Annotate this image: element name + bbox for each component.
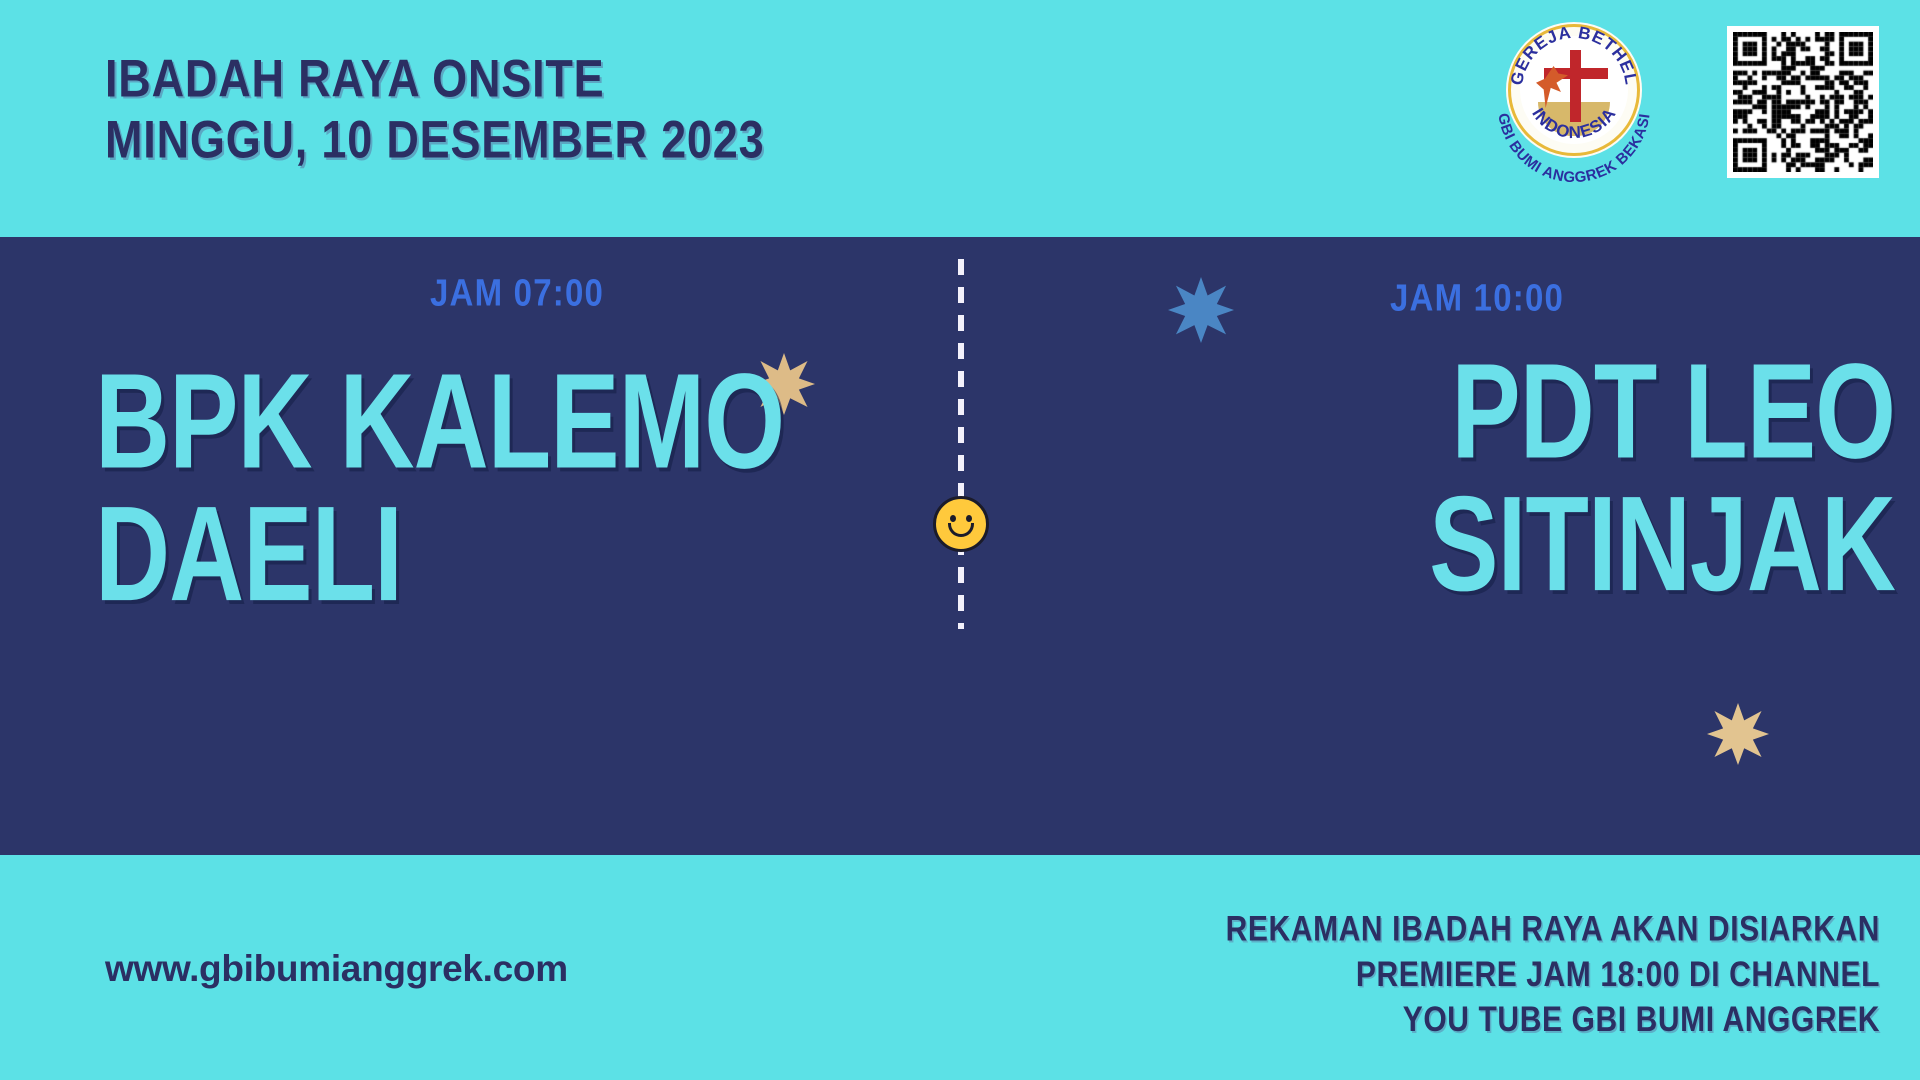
speaker-name-left: BPK KALEMO DAELI (95, 357, 935, 622)
broadcast-note-line1: REKAMAN IBADAH RAYA AKAN DISIARKAN (1226, 907, 1880, 952)
smiley-eye-left (950, 515, 956, 522)
event-date-line2: MINGGU, 10 DESEMBER 2023 (105, 110, 764, 172)
event-title-line1: IBADAH RAYA ONSITE (105, 48, 605, 108)
event-title-block: IBADAH RAYA ONSITE MINGGU, 10 DESEMBER 2… (105, 48, 764, 171)
dashed-divider (958, 259, 964, 629)
qr-code[interactable] (1727, 26, 1879, 178)
logo-arc-text: GBI BUMI ANGGREK BEKASI (1494, 14, 1654, 184)
smiley-eye-right (966, 515, 972, 522)
service-time-left: JAM 07:00 (430, 271, 604, 314)
smiley-mouth (948, 523, 974, 537)
service-column-left: JAM 07:00 BPK KALEMO DAELI (0, 237, 960, 855)
speaker-name-right: PDT LEO SITINJAK (1055, 347, 1895, 612)
svg-text:GBI BUMI ANGGREK BEKASI: GBI BUMI ANGGREK BEKASI (1494, 112, 1653, 184)
website-url[interactable]: www.gbibumianggrek.com (105, 948, 568, 990)
service-column-right: JAM 10:00 PDT LEO SITINJAK (960, 237, 1920, 855)
qr-code-image (1733, 32, 1873, 172)
broadcast-note: REKAMAN IBADAH RAYA AKAN DISIARKAN PREMI… (1226, 907, 1880, 1043)
broadcast-note-line3: YOU TUBE GBI BUMI ANGGREK (1226, 997, 1880, 1042)
broadcast-note-line2: PREMIERE JAM 18:00 DI CHANNEL (1226, 952, 1880, 997)
smiley-face-icon (933, 496, 989, 552)
church-logo: GEREJA BETHEL INDONESIA GBI BUMI ANGGREK… (1494, 14, 1654, 184)
service-time-right: JAM 10:00 (1390, 276, 1564, 319)
